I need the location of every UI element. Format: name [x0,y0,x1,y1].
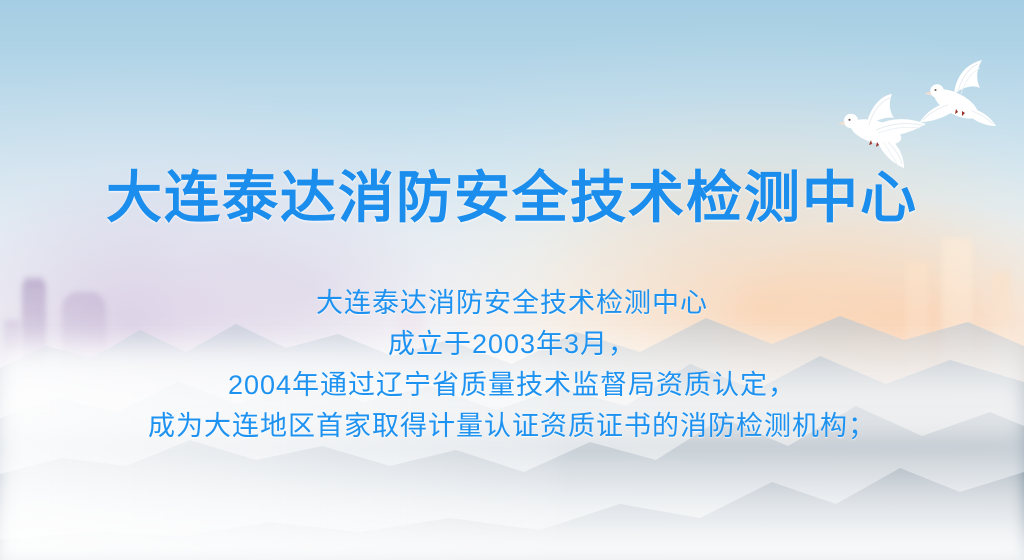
page-title: 大连泰达消防安全技术检测中心 [0,166,1024,230]
description-line-1: 大连泰达消防安全技术检测中心 [0,283,1024,324]
banner-content: 大连泰达消防安全技术检测中心 大连泰达消防安全技术检测中心 成立于2003年3月… [0,0,1024,560]
description-block: 大连泰达消防安全技术检测中心 成立于2003年3月， 2004年通过辽宁省质量技… [0,283,1024,447]
description-line-3: 2004年通过辽宁省质量技术监督局资质认定， [0,365,1024,406]
description-line-4: 成为大连地区首家取得计量认证资质证书的消防检测机构； [0,406,1024,447]
description-line-2: 成立于2003年3月， [0,324,1024,365]
promo-banner: 大连泰达消防安全技术检测中心 大连泰达消防安全技术检测中心 成立于2003年3月… [0,0,1024,560]
